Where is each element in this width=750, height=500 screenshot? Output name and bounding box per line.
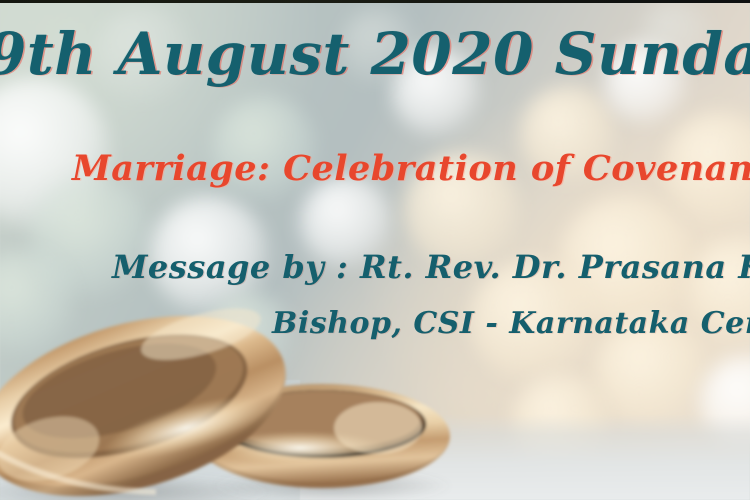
poster-text-layer: 9th August 2020 Sunday Service Marriage:… xyxy=(0,0,750,500)
top-border-band xyxy=(0,0,750,3)
wedding-service-poster: 9th August 2020 Sunday Service Marriage:… xyxy=(0,0,750,500)
poster-affiliation: Bishop, CSI - Karnataka Central Diocese xyxy=(272,306,750,341)
poster-subtitle: Marriage: Celebration of Covenant/ Sacra… xyxy=(72,148,750,189)
poster-speaker: Message by : Rt. Rev. Dr. Prasana Kumar … xyxy=(112,248,750,286)
poster-title: 9th August 2020 Sunday Service xyxy=(0,24,750,85)
